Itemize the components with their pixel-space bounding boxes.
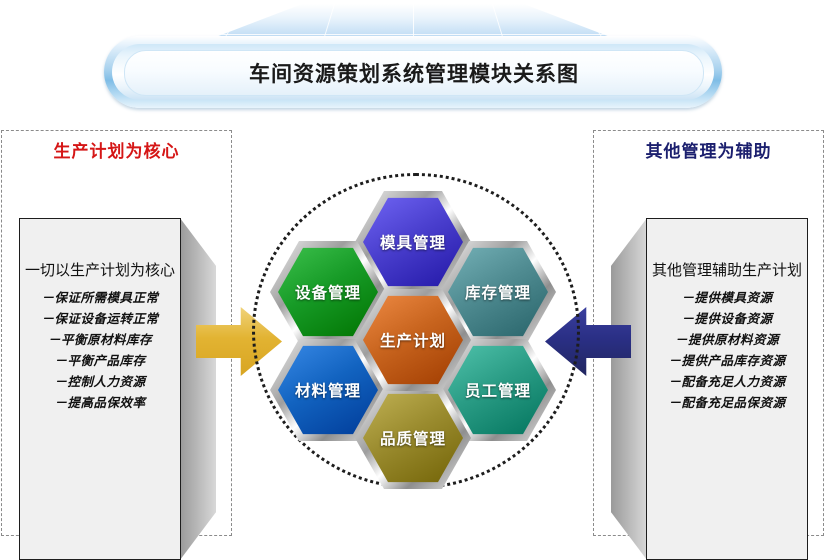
right-card-bullet-list: －提供模具资源－提供设备资源－提供原材料资源－提供产品库存资源－配备充足人力资源… <box>647 287 807 413</box>
list-item: －保证设备运转正常 <box>20 308 180 329</box>
left-panel-header: 生产计划为核心 <box>2 137 231 162</box>
hexagon-label: 库存管理 <box>465 281 531 303</box>
hexagon-label: 设备管理 <box>295 281 361 303</box>
list-item: －控制人力资源 <box>20 371 180 392</box>
hexagon-label: 生产计划 <box>380 329 446 351</box>
hexagon-label: 模具管理 <box>380 231 446 253</box>
hexagon-face: 品质管理 <box>363 393 463 483</box>
left-card-title: 一切以生产计划为核心 <box>20 259 180 280</box>
list-item: －平衡产品库存 <box>20 350 180 371</box>
right-card-3d-edge <box>611 218 647 560</box>
list-item: －提高品保效率 <box>20 392 180 413</box>
hexagon-label: 品质管理 <box>380 427 446 449</box>
list-item: －平衡原材料库存 <box>20 329 180 350</box>
hexagon-label: 员工管理 <box>465 379 531 401</box>
right-card: 其他管理辅助生产计划 －提供模具资源－提供设备资源－提供原材料资源－提供产品库存… <box>646 218 808 560</box>
page-title: 车间资源策划系统管理模块关系图 <box>249 58 579 88</box>
right-card-title: 其他管理辅助生产计划 <box>647 259 807 280</box>
banner-inner-pill: 车间资源策划系统管理模块关系图 <box>124 50 704 96</box>
hexagon-face: 设备管理 <box>278 247 378 337</box>
hexagon-face: 员工管理 <box>448 345 548 435</box>
hexagon-face: 库存管理 <box>448 247 548 337</box>
hexagon-face: 生产计划 <box>363 295 463 385</box>
list-item: －提供原材料资源 <box>647 329 807 350</box>
list-item: －提供设备资源 <box>647 308 807 329</box>
list-item: －保证所需模具正常 <box>20 287 180 308</box>
list-item: －提供模具资源 <box>647 287 807 308</box>
diagram-canvas: 车间资源策划系统管理模块关系图 生产计划为核心 一切以生产计划为核心 －保证所需… <box>0 0 825 545</box>
left-card-3d-edge <box>180 218 216 560</box>
right-panel-header: 其他管理为辅助 <box>594 137 823 162</box>
list-item: －配备充足人力资源 <box>647 371 807 392</box>
list-item: －配备充足品保资源 <box>647 392 807 413</box>
list-item: －提供产品库存资源 <box>647 350 807 371</box>
hexagon-face: 材料管理 <box>278 345 378 435</box>
hexagon-face: 模具管理 <box>363 197 463 287</box>
left-card: 一切以生产计划为核心 －保证所需模具正常－保证设备运转正常－平衡原材料库存－平衡… <box>19 218 181 560</box>
hexagon-cluster: 模具管理设备管理库存管理材料管理员工管理品质管理生产计划 <box>248 168 578 488</box>
left-card-bullet-list: －保证所需模具正常－保证设备运转正常－平衡原材料库存－平衡产品库存－控制人力资源… <box>20 287 180 413</box>
title-banner: 车间资源策划系统管理模块关系图 <box>0 0 825 122</box>
hexagon-label: 材料管理 <box>295 379 361 401</box>
